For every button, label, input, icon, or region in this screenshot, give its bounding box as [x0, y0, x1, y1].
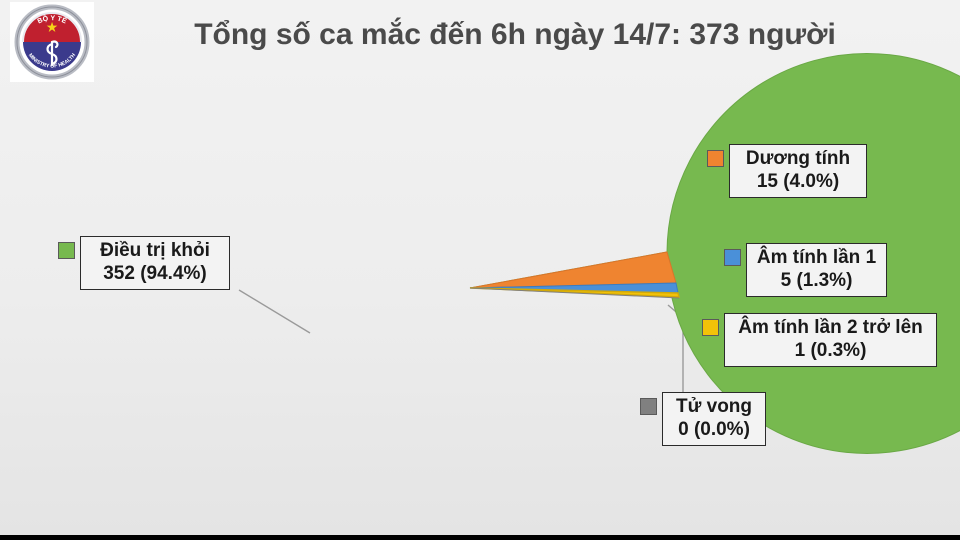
callout-value-dieu-tri-khoi: 352 (94.4%)	[88, 262, 222, 285]
slide-canvas: BỘ Y TẾ MINISTRY OF HEALTH Tổng số ca mắ…	[0, 0, 960, 540]
callout-box-dieu-tri-khoi: Điều trị khỏi 352 (94.4%)	[80, 236, 230, 290]
callout-label-dieu-tri-khoi: Điều trị khỏi	[88, 239, 222, 262]
callout-label-tu-vong: Tử vong	[670, 395, 758, 418]
swatch-duong-tinh	[707, 150, 724, 167]
callout-am-tinh-lan-2[interactable]: Âm tính lần 2 trở lên 1 (0.3%)	[702, 313, 937, 367]
callout-value-am-tinh-lan-2: 1 (0.3%)	[732, 339, 929, 362]
callout-value-duong-tinh: 15 (4.0%)	[737, 170, 859, 193]
callout-box-duong-tinh: Dương tính 15 (4.0%)	[729, 144, 867, 198]
callout-value-am-tinh-lan-1: 5 (1.3%)	[754, 269, 879, 292]
callout-label-duong-tinh: Dương tính	[737, 147, 859, 170]
swatch-am-tinh-lan-1	[724, 249, 741, 266]
callout-box-tu-vong: Tử vong 0 (0.0%)	[662, 392, 766, 446]
callout-dieu-tri-khoi[interactable]: Điều trị khỏi 352 (94.4%)	[58, 236, 230, 290]
swatch-tu-vong	[640, 398, 657, 415]
pie-slice-duong-tinh	[470, 252, 676, 288]
callout-label-am-tinh-lan-1: Âm tính lần 1	[754, 246, 879, 269]
swatch-am-tinh-lan-2	[702, 319, 719, 336]
swatch-dieu-tri-khoi	[58, 242, 75, 259]
callout-label-am-tinh-lan-2: Âm tính lần 2 trở lên	[732, 316, 929, 339]
callout-value-tu-vong: 0 (0.0%)	[670, 418, 758, 441]
callout-tu-vong[interactable]: Tử vong 0 (0.0%)	[640, 392, 766, 446]
callout-box-am-tinh-lan-2: Âm tính lần 2 trở lên 1 (0.3%)	[724, 313, 937, 367]
callout-am-tinh-lan-1[interactable]: Âm tính lần 1 5 (1.3%)	[724, 243, 887, 297]
callout-box-am-tinh-lan-1: Âm tính lần 1 5 (1.3%)	[746, 243, 887, 297]
callout-duong-tinh[interactable]: Dương tính 15 (4.0%)	[707, 144, 867, 198]
